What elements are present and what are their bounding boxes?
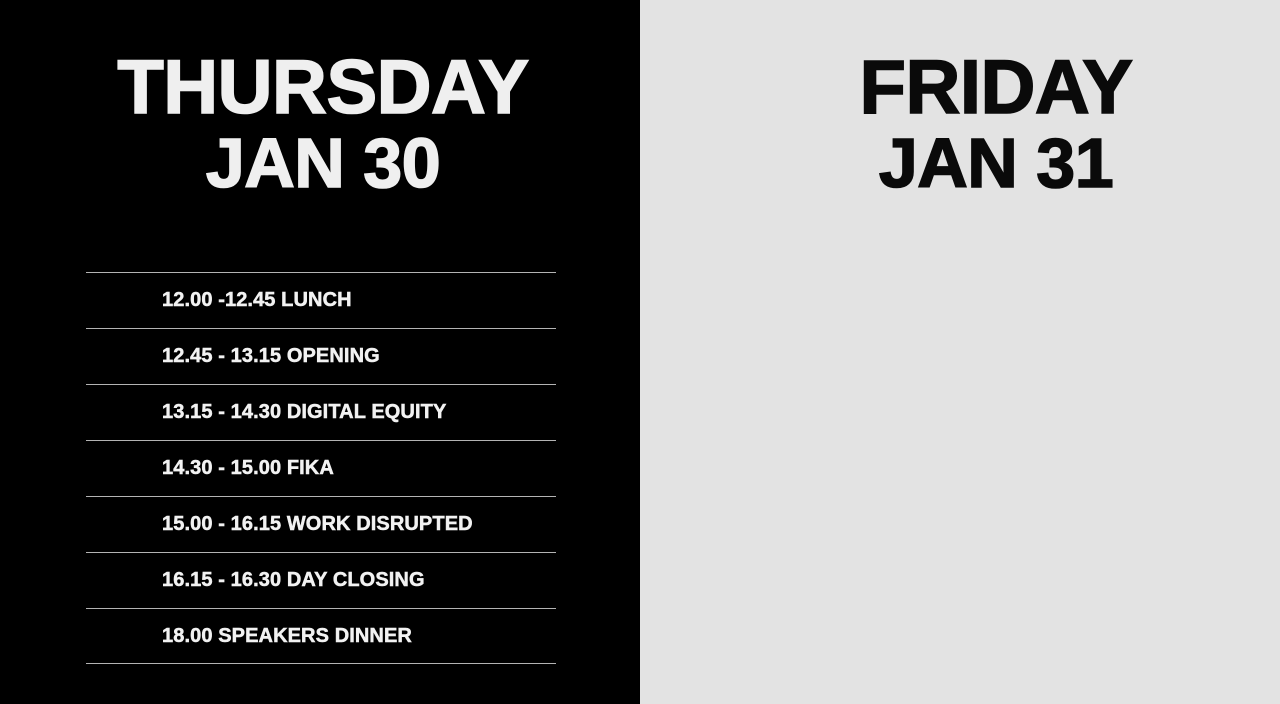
agenda-row[interactable]: 13.15 - 14.30 DIGITAL EQUITY: [86, 384, 556, 440]
agenda-row[interactable]: 12.00 -12.45 LUNCH: [86, 272, 556, 328]
day-heading-date: JAN 30: [90, 130, 556, 197]
agenda-row-text: 14.30 - 15.00 FIKA: [162, 457, 334, 480]
agenda-row-text: 15.00 - 16.15 WORK DISRUPTED: [162, 513, 473, 536]
day-heading-weekday: THURSDAY: [90, 52, 556, 124]
agenda-list-thursday: 12.00 -12.45 LUNCH 12.45 - 13.15 OPENING…: [86, 272, 556, 664]
agenda-row[interactable]: 14.30 - 15.00 FIKA: [86, 440, 556, 496]
agenda-row-text: 13.15 - 14.30 DIGITAL EQUITY: [162, 401, 446, 424]
agenda-row-text: 12.45 - 13.15 OPENING: [162, 345, 380, 368]
agenda-row-text: 18.00 SPEAKERS DINNER: [162, 625, 412, 648]
agenda-row[interactable]: 16.15 - 16.30 DAY CLOSING: [86, 552, 556, 608]
day-panel-thursday: THURSDAY JAN 30 12.00 -12.45 LUNCH 12.45…: [0, 0, 640, 704]
day-heading-friday: FRIDAY JAN 31: [758, 0, 1228, 197]
schedule-board: THURSDAY JAN 30 12.00 -12.45 LUNCH 12.45…: [0, 0, 1280, 704]
agenda-row-text: 12.00 -12.45 LUNCH: [162, 289, 352, 312]
day-panel-friday: FRIDAY JAN 31 09.00 - 09.15 DAY OPENING …: [640, 0, 1280, 704]
agenda-row[interactable]: 18.00 SPEAKERS DINNER: [86, 608, 556, 664]
agenda-row[interactable]: 15.00 - 16.15 WORK DISRUPTED: [86, 496, 556, 552]
day-heading-weekday: FRIDAY: [764, 52, 1228, 124]
agenda-row-text: 16.15 - 16.30 DAY CLOSING: [162, 569, 425, 592]
day-heading-date: JAN 31: [764, 130, 1228, 197]
agenda-row[interactable]: 12.45 - 13.15 OPENING: [86, 328, 556, 384]
day-heading-thursday: THURSDAY JAN 30: [86, 0, 556, 197]
